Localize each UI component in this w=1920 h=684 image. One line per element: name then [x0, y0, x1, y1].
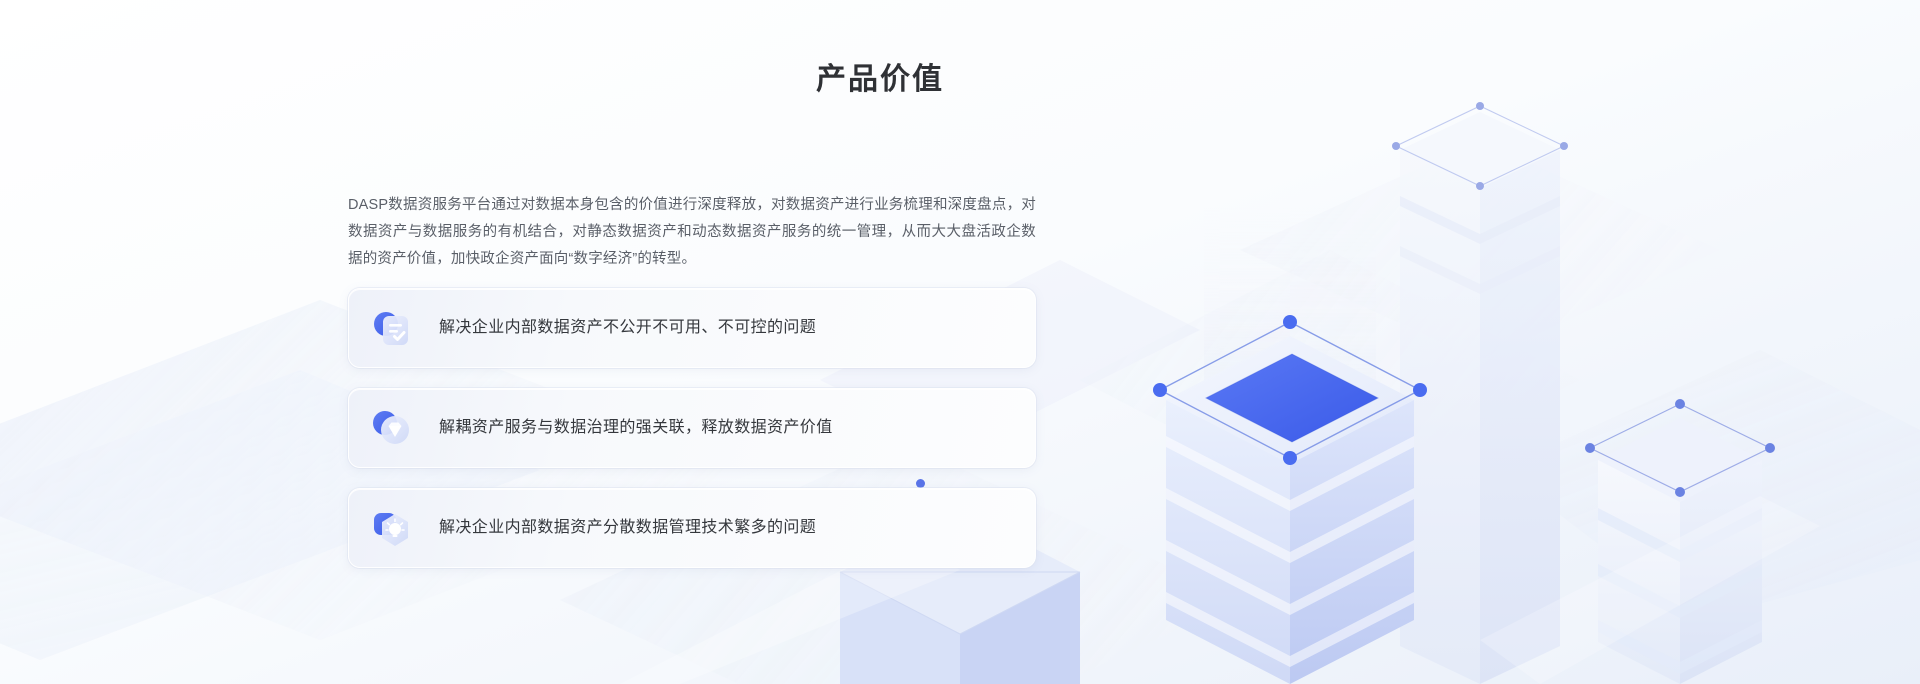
value-card-1-label: 解决企业内部数据资产不公开不可用、不可控的问题: [439, 320, 816, 336]
document-check-icon: [369, 305, 415, 351]
gem-shield-icon: [369, 405, 415, 451]
value-card-2-label: 解耦资产服务与数据治理的强关联，释放数据资产价值: [439, 420, 833, 436]
page-title-text: 产品价值: [816, 54, 944, 98]
value-card-2[interactable]: 解耦资产服务与数据治理的强关联，释放数据资产价值: [348, 388, 1036, 468]
page-title: 产品价值: [0, 54, 1920, 98]
value-card-1[interactable]: 解决企业内部数据资产不公开不可用、不可控的问题: [348, 288, 1036, 368]
lightbulb-hexagon-icon: [369, 505, 415, 551]
product-value-section: 产品价值 DASP数据资服务平台通过对数据本身包含的价值进行深度释放，对数据资产…: [0, 0, 1920, 684]
value-card-list: 解决企业内部数据资产不公开不可用、不可控的问题: [348, 288, 1036, 568]
intro-paragraph: DASP数据资服务平台通过对数据本身包含的价值进行深度释放，对数据资产进行业务梳…: [348, 192, 1036, 273]
value-card-3-label: 解决企业内部数据资产分散数据管理技术繁多的问题: [439, 520, 816, 536]
value-card-3[interactable]: 解决企业内部数据资产分散数据管理技术繁多的问题: [348, 488, 1036, 568]
